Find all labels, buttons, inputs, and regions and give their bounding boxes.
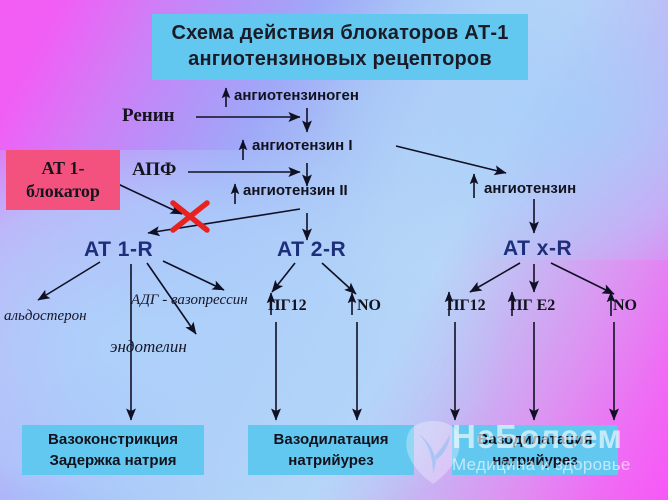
effect-endothelin: эндотелин [110, 337, 187, 357]
label-angiotensinogen: ангиотензиноген [234, 87, 359, 104]
effect-at2r-no: NO [357, 297, 381, 315]
label-angiotensin-other: ангиотензин [484, 180, 576, 197]
title-line-2: ангиотензиновых рецепторов [152, 46, 528, 72]
blocker-line-2: блокатор [26, 180, 100, 203]
result3-line-2: натрийурез [492, 450, 577, 471]
result1-line-1: Вазоконстрикция [48, 429, 178, 450]
effect-atxr-pgi2: ПГ12 [447, 297, 486, 315]
label-renin: Ренин [122, 105, 175, 127]
result2-line-1: Вазодилатация [274, 429, 389, 450]
label-ace: АПФ [132, 159, 176, 181]
diagram-canvas: Схема действия блокаторов АТ-1 ангиотенз… [0, 0, 668, 500]
label-angiotensin-2: ангиотензин II [243, 182, 348, 199]
effect-at2r-pgi2: ПГ12 [268, 297, 307, 315]
effect-aldosterone: альдостерон [4, 308, 87, 325]
receptor-at2r: AT 2-R [277, 238, 346, 262]
effect-atxr-no: NO [613, 297, 637, 315]
result2-line-2: натрийурез [288, 450, 373, 471]
title-line-1: Схема действия блокаторов АТ-1 [152, 20, 528, 46]
at1-blocker-box: АТ 1- блокатор [6, 150, 120, 210]
receptor-atxr: AT x-R [503, 237, 572, 261]
result-box-vasodilation-at2r: Вазодилатация натрийурез [248, 425, 414, 475]
result3-line-1: Вазодилатация [478, 429, 593, 450]
diagram-title: Схема действия блокаторов АТ-1 ангиотенз… [152, 14, 528, 80]
receptor-at1r: AT 1-R [84, 238, 153, 262]
label-angiotensin-1: ангиотензин I [252, 137, 352, 154]
result1-line-2: Задержка натрия [49, 450, 176, 471]
result-box-vasoconstriction: Вазоконстрикция Задержка натрия [22, 425, 204, 475]
result-box-vasodilation-atxr: Вазодилатация натрийурез [452, 425, 618, 475]
effect-adh-vasopressin: АДГ - вазопрессин [131, 292, 248, 309]
effect-atxr-pge2: ПГ Е2 [510, 297, 555, 315]
blocker-line-1: АТ 1- [42, 157, 85, 180]
